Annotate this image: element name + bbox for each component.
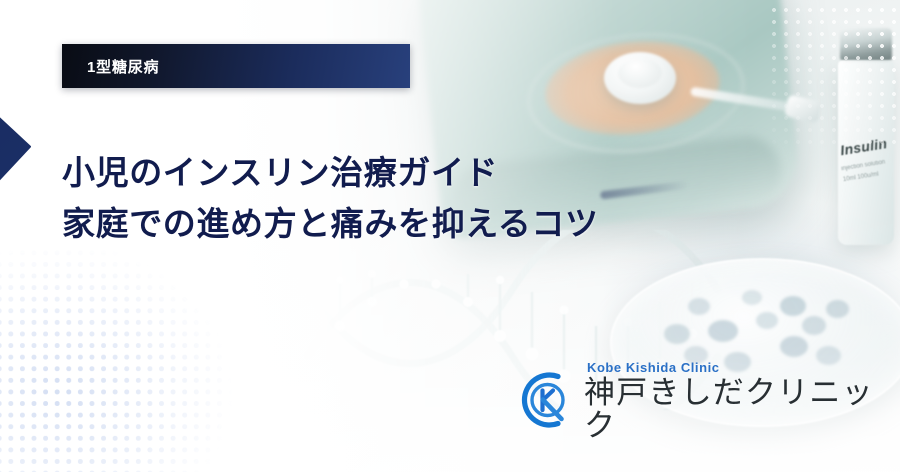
circle-k-logo-icon <box>512 367 578 433</box>
clinic-logo[interactable]: Kobe Kishida Clinic 神戸きしだクリニック <box>512 358 900 443</box>
dot-pattern-bottom-left <box>0 242 250 472</box>
dot-pattern-top-right <box>764 0 900 148</box>
category-badge[interactable]: 1型糖尿病 <box>62 44 410 88</box>
page-title-line-1: 小児のインスリン治療ガイド <box>62 148 682 199</box>
clinic-name-japanese: 神戸きしだクリニック <box>584 377 900 443</box>
category-badge-label: 1型糖尿病 <box>87 56 159 77</box>
page-title: 小児のインスリン治療ガイド 家庭での進め方と痛みを抑えるコツ <box>62 148 682 250</box>
clinic-name-english: Kobe Kishida Clinic <box>587 360 900 375</box>
clinic-logo-text: Kobe Kishida Clinic 神戸きしだクリニック <box>584 358 900 443</box>
hero-banner: Insulin injection solution 10ml 100u/ml … <box>0 0 900 472</box>
page-title-line-2: 家庭での進め方と痛みを抑えるコツ <box>62 199 682 250</box>
